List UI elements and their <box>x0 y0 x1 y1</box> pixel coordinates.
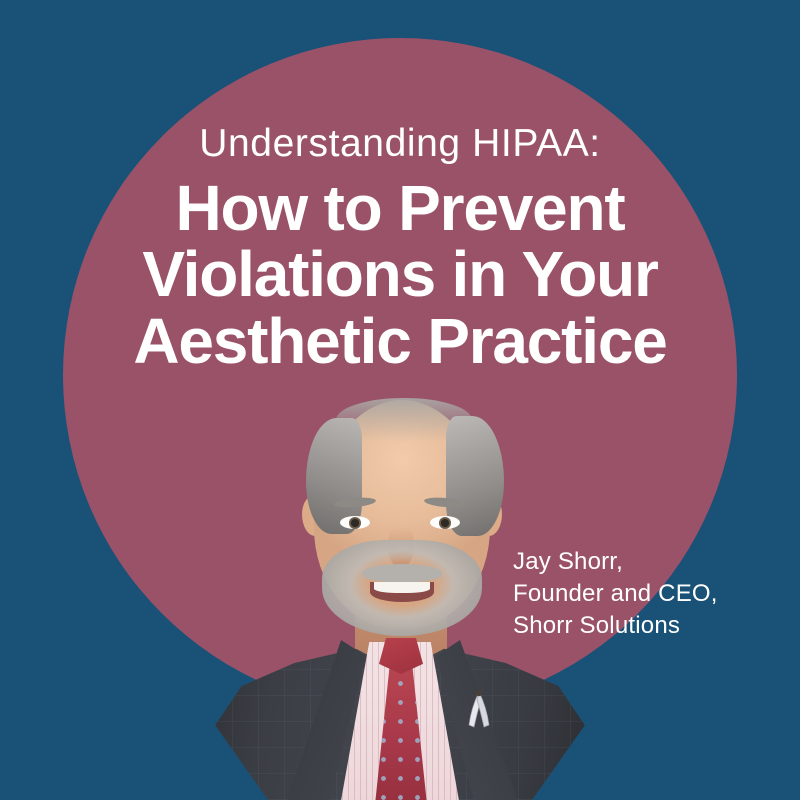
promo-poster: Understanding HIPAA: How to Prevent Viol… <box>0 0 800 800</box>
eye-left <box>340 516 370 529</box>
attribution-role: Founder and CEO, <box>513 578 718 610</box>
eye-right <box>430 516 460 529</box>
mustache <box>362 564 442 582</box>
iris-right <box>439 517 451 529</box>
mouth <box>370 582 434 602</box>
teeth <box>374 582 430 593</box>
attribution-block: Jay Shorr, Founder and CEO, Shorr Soluti… <box>513 546 718 642</box>
iris-left <box>349 517 361 529</box>
awareness-ribbon-icon <box>466 688 492 728</box>
attribution-name: Jay Shorr, <box>513 546 718 578</box>
attribution-company: Shorr Solutions <box>513 610 718 642</box>
